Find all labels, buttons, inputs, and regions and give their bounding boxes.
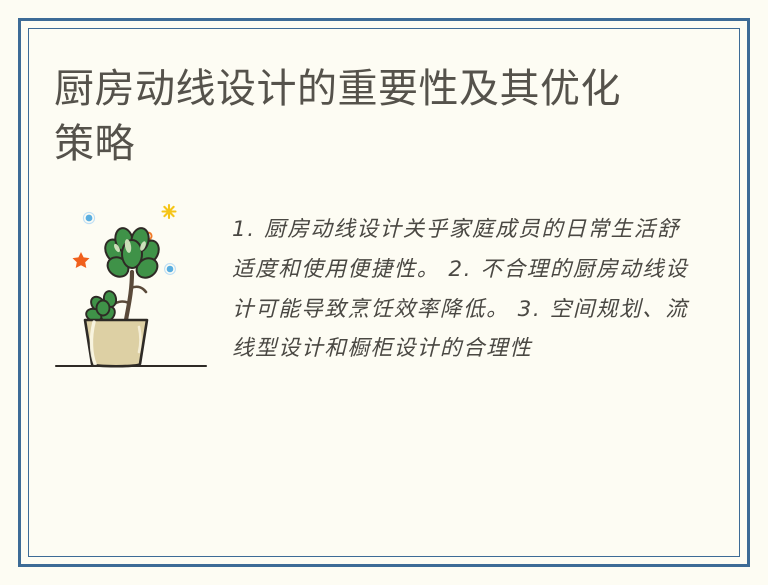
plant-pot: [85, 320, 147, 366]
slide-title: 厨房动线设计的重要性及其优化策略: [54, 62, 654, 172]
sparkle-orange-star-icon: [73, 252, 90, 268]
sparkle-blue-dot-left-icon: [83, 212, 94, 223]
slide-content-row: 1. 厨房动线设计关乎家庭成员的日常生活舒适度和使用便捷性。 2. 不合理的厨房…: [54, 196, 698, 376]
slide-body-text: 1. 厨房动线设计关乎家庭成员的日常生活舒适度和使用便捷性。 2. 不合理的厨房…: [232, 196, 698, 369]
sparkle-yellow-burst-icon: [163, 205, 176, 218]
sparkle-blue-dot-right-icon: [165, 264, 176, 275]
potted-plant-illustration: [54, 196, 214, 376]
slide-canvas: 厨房动线设计的重要性及其优化策略: [0, 0, 768, 585]
plant-stem: [112, 272, 146, 320]
